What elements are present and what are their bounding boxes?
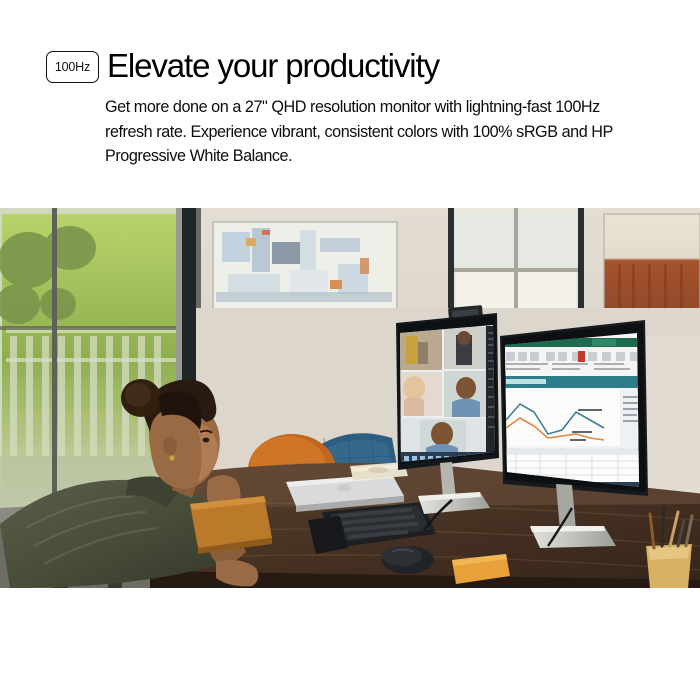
product-lifestyle-photo — [0, 208, 700, 588]
feature-list: 1500:1 contrast ratio 100% sRGB IPS 27" … — [0, 596, 700, 700]
notebook — [190, 496, 272, 554]
refresh-rate-badge: 100Hz — [46, 51, 99, 83]
product-feature-card: 100Hz Elevate your productivity Get more… — [0, 0, 700, 700]
artwork-abstract-blue — [213, 222, 397, 310]
page-title: Elevate your productivity — [107, 43, 439, 89]
photo-illustration — [0, 208, 700, 588]
header-section: 100Hz Elevate your productivity Get more… — [0, 0, 700, 208]
mouse — [382, 546, 434, 574]
page-description: Get more done on a 27" QHD resolution mo… — [105, 95, 645, 169]
